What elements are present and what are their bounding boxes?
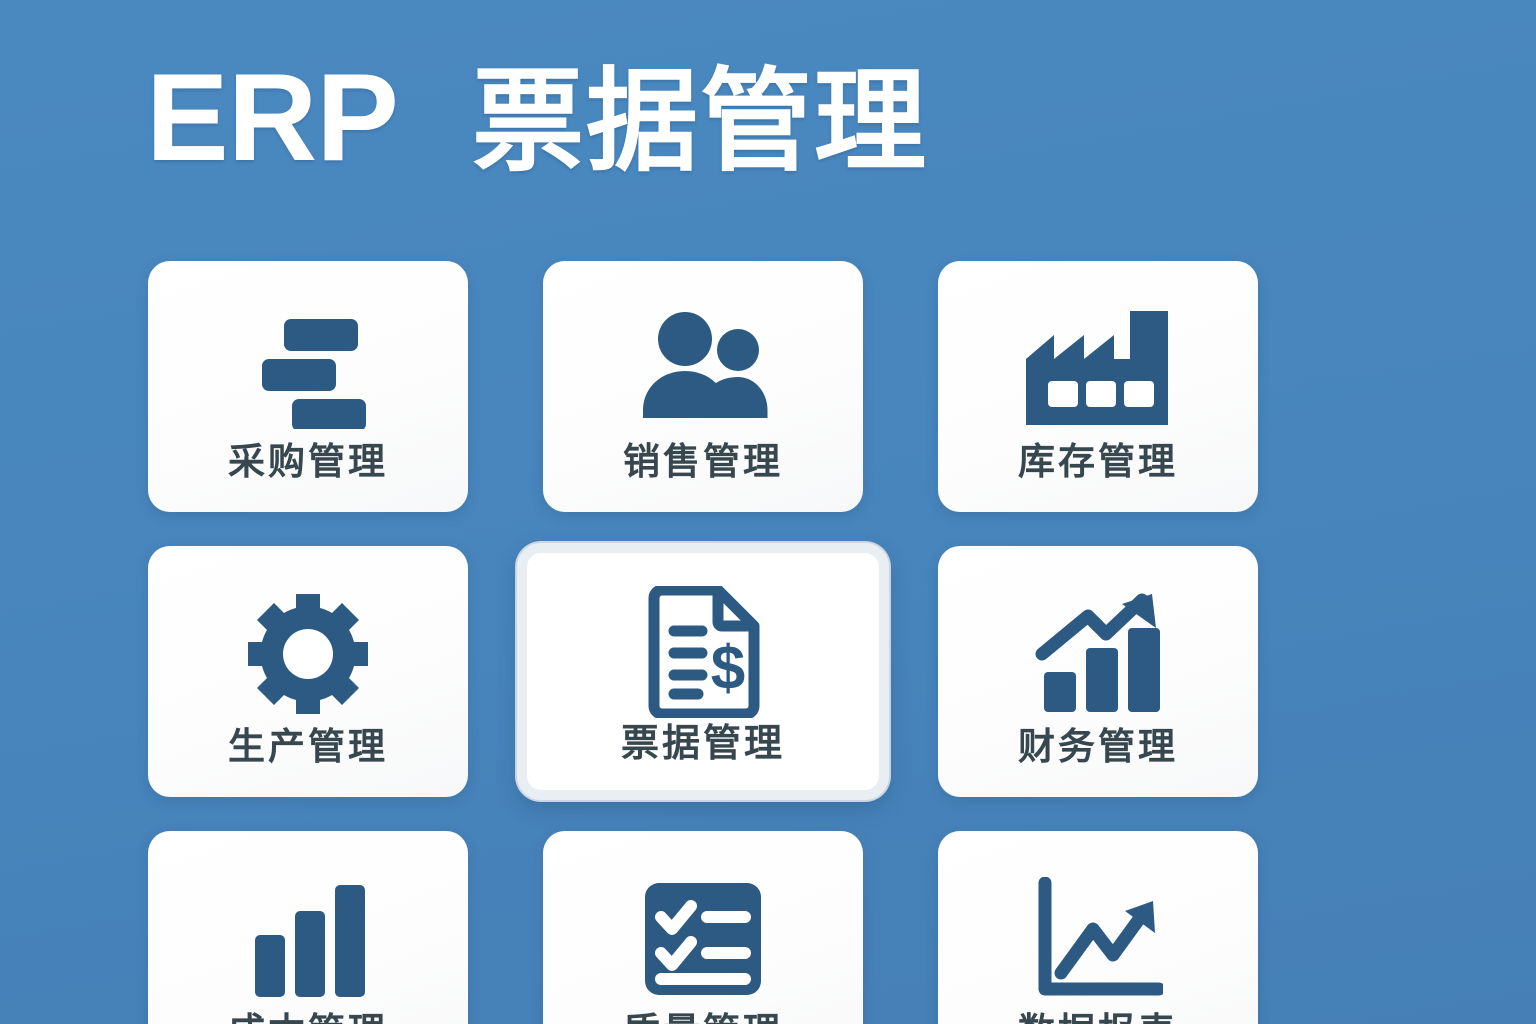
module-card-label: 库存管理 <box>1018 443 1178 480</box>
module-card-quality[interactable]: 质量管理 <box>543 831 863 1024</box>
svg-text:$: $ <box>711 634 745 703</box>
gear-icon <box>244 586 372 722</box>
module-card-label: 数据报表 <box>1018 1013 1178 1024</box>
checklist-icon <box>641 871 765 1007</box>
module-card-production[interactable]: 生产管理 <box>148 546 468 797</box>
module-card-finance[interactable]: 财务管理 <box>938 546 1258 797</box>
page-title-cn: 票据管理 <box>472 66 928 178</box>
factory-icon <box>1022 301 1174 437</box>
page-title-en: ERP <box>146 56 398 180</box>
module-card-label: 财务管理 <box>1018 728 1178 765</box>
module-card-cost[interactable]: 成本管理 <box>148 831 468 1024</box>
module-card-inventory[interactable]: 库存管理 <box>938 261 1258 512</box>
module-card-invoice[interactable]: $ 票据管理 <box>517 543 889 800</box>
bar-chart-icon <box>245 871 371 1007</box>
module-card-label: 采购管理 <box>228 443 388 480</box>
module-card-purchase[interactable]: 采购管理 <box>148 261 468 512</box>
erp-module-launcher: ERP 票据管理 采购管理 <box>0 0 1536 1024</box>
people-icon <box>623 301 783 437</box>
module-card-label: 成本管理 <box>228 1013 388 1024</box>
module-card-label: 票据管理 <box>621 725 785 763</box>
module-card-sales[interactable]: 销售管理 <box>543 261 863 512</box>
module-card-label: 质量管理 <box>623 1013 783 1024</box>
module-grid: 采购管理 销售管理 <box>148 261 1388 1024</box>
module-card-label: 生产管理 <box>228 728 388 765</box>
module-card-label: 销售管理 <box>623 443 783 480</box>
module-card-reports[interactable]: 数据报表 <box>938 831 1258 1024</box>
growth-bar-chart-icon <box>1030 586 1166 722</box>
page-title: ERP 票据管理 <box>146 56 928 180</box>
line-chart-icon <box>1033 871 1163 1007</box>
invoice-document-icon: $ <box>640 581 766 723</box>
purchase-bars-icon <box>242 301 374 437</box>
